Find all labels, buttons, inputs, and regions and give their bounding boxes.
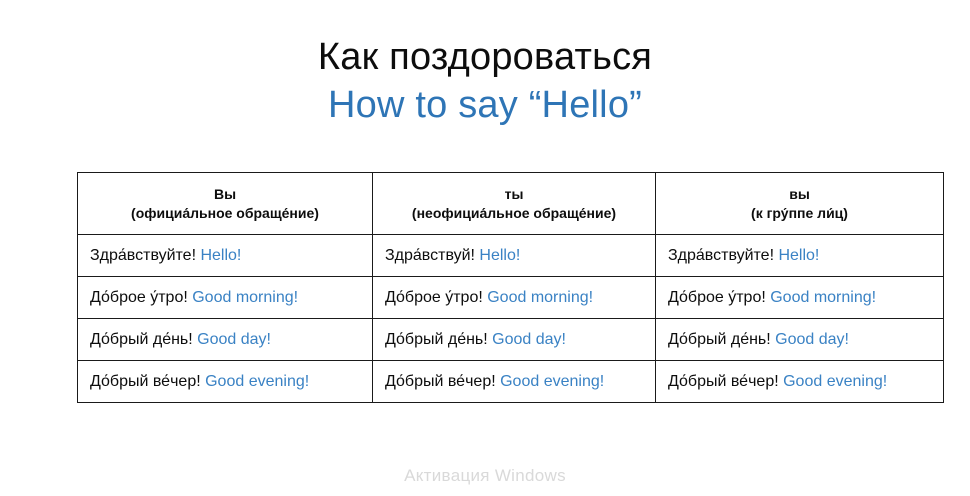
table-cell: До́брое у́тро! Good morning! bbox=[373, 277, 656, 319]
phrase-russian: До́брый де́нь! bbox=[668, 331, 775, 348]
table-cell: Здра́вствуйте! Hello! bbox=[78, 235, 373, 277]
phrase-english: Good morning! bbox=[192, 289, 298, 306]
table-cell: До́брый ве́чер! Good evening! bbox=[373, 361, 656, 403]
phrase-english: Good day! bbox=[197, 331, 271, 348]
windows-activation-watermark: Активация Windows bbox=[0, 466, 970, 486]
table-cell: До́брое у́тро! Good morning! bbox=[656, 277, 944, 319]
phrase-english: Good day! bbox=[492, 331, 566, 348]
table-cell: До́брый ве́чер! Good evening! bbox=[656, 361, 944, 403]
phrase-russian: До́брое у́тро! bbox=[668, 289, 770, 306]
phrase-russian: До́брый ве́чер! bbox=[385, 373, 500, 390]
phrase-russian: Здра́вствуйте! bbox=[668, 247, 778, 264]
phrase-english: Good evening! bbox=[205, 373, 309, 390]
phrase-english: Good evening! bbox=[783, 373, 887, 390]
phrase-english: Good day! bbox=[775, 331, 849, 348]
table-cell: Здра́вствуй! Hello! bbox=[373, 235, 656, 277]
header-pronoun-formal: Вы bbox=[84, 185, 366, 204]
phrase-english: Hello! bbox=[200, 247, 241, 264]
table-header: Вы (официа́льное обраще́ние) ты (неофици… bbox=[78, 173, 944, 235]
phrase-russian: Здра́вствуй! bbox=[385, 247, 479, 264]
phrase-russian: Здра́вствуйте! bbox=[90, 247, 200, 264]
table-cell: До́брый де́нь! Good day! bbox=[78, 319, 373, 361]
phrase-russian: До́брый ве́чер! bbox=[668, 373, 783, 390]
greetings-table: Вы (официа́льное обраще́ние) ты (неофици… bbox=[77, 172, 944, 403]
table-header-row: Вы (официа́льное обраще́ние) ты (неофици… bbox=[78, 173, 944, 235]
phrase-russian: До́брое у́тро! bbox=[90, 289, 192, 306]
table-header-cell-informal: ты (неофициа́льное обраще́ние) bbox=[373, 173, 656, 235]
phrase-english: Hello! bbox=[778, 247, 819, 264]
header-note-plural: (к гру́ппе ли́ц) bbox=[662, 204, 937, 223]
table-cell: До́брый де́нь! Good day! bbox=[373, 319, 656, 361]
table-cell: До́брый ве́чер! Good evening! bbox=[78, 361, 373, 403]
header-pronoun-plural: вы bbox=[662, 185, 937, 204]
phrase-russian: До́брый де́нь! bbox=[90, 331, 197, 348]
table-header-cell-plural: вы (к гру́ппе ли́ц) bbox=[656, 173, 944, 235]
header-note-formal: (официа́льное обраще́ние) bbox=[84, 204, 366, 223]
table-body: Здра́вствуйте! Hello! Здра́вствуй! Hello… bbox=[78, 235, 944, 403]
table-row: До́брый ве́чер! Good evening! До́брый ве… bbox=[78, 361, 944, 403]
table-header-cell-formal: Вы (официа́льное обраще́ние) bbox=[78, 173, 373, 235]
table-cell: До́брый де́нь! Good day! bbox=[656, 319, 944, 361]
table-row: До́брый де́нь! Good day! До́брый де́нь! … bbox=[78, 319, 944, 361]
phrase-english: Hello! bbox=[479, 247, 520, 264]
page-title-russian: Как поздороваться bbox=[0, 34, 970, 80]
table-row: Здра́вствуйте! Hello! Здра́вствуй! Hello… bbox=[78, 235, 944, 277]
page-title-english: How to say “Hello” bbox=[0, 82, 970, 128]
phrase-english: Good morning! bbox=[770, 289, 876, 306]
table-row: До́брое у́тро! Good morning! До́брое у́т… bbox=[78, 277, 944, 319]
header-note-informal: (неофициа́льное обраще́ние) bbox=[379, 204, 649, 223]
phrase-russian: До́брый де́нь! bbox=[385, 331, 492, 348]
slide-title-block: Как поздороваться How to say “Hello” bbox=[0, 34, 970, 128]
slide-canvas: Как поздороваться How to say “Hello” Вы … bbox=[0, 0, 970, 496]
phrase-english: Good evening! bbox=[500, 373, 604, 390]
phrase-russian: До́брый ве́чер! bbox=[90, 373, 205, 390]
phrase-russian: До́брое у́тро! bbox=[385, 289, 487, 306]
table-cell: Здра́вствуйте! Hello! bbox=[656, 235, 944, 277]
header-pronoun-informal: ты bbox=[379, 185, 649, 204]
phrase-english: Good morning! bbox=[487, 289, 593, 306]
table-cell: До́брое у́тро! Good morning! bbox=[78, 277, 373, 319]
